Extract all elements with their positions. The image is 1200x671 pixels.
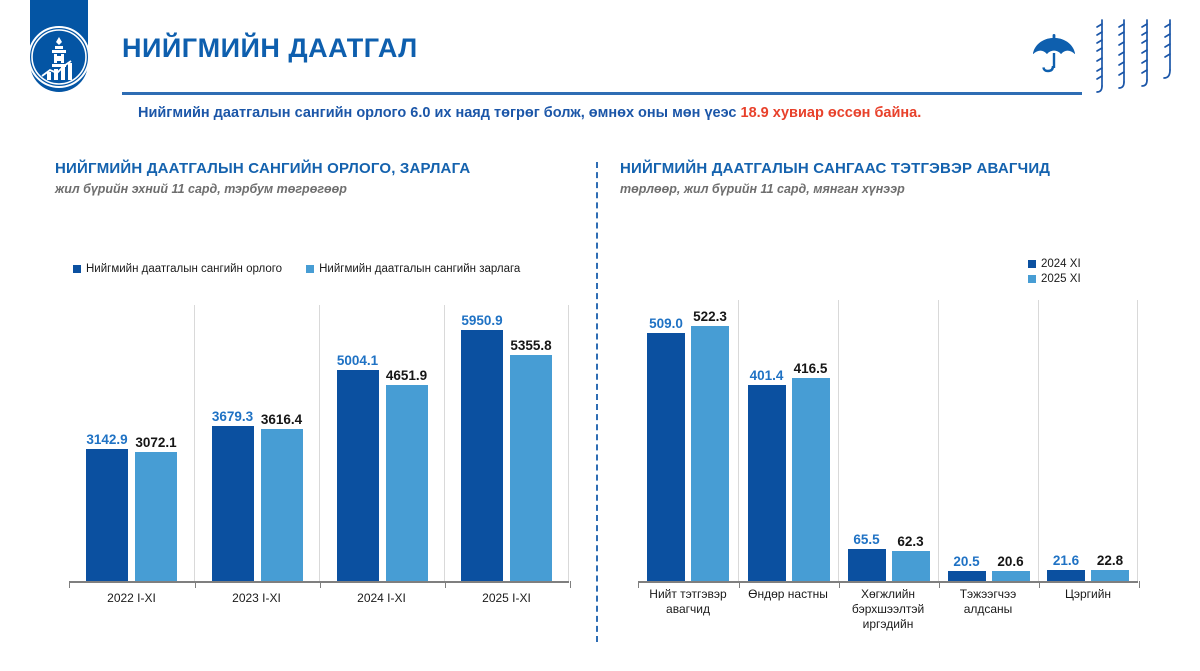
x-axis-label: Хөгжлийн бэрхшээлтэй иргэдийн — [838, 587, 938, 632]
bar-column[interactable]: 5950.9 — [461, 305, 503, 581]
bar[interactable] — [992, 571, 1030, 581]
bar-column[interactable]: 20.5 — [948, 300, 986, 581]
right-chart-title: НИЙГМИЙН ДААТГАЛЫН САНГААС ТЭТГЭВЭР АВАГ… — [620, 160, 1165, 177]
bar-column[interactable]: 401.4 — [748, 300, 786, 581]
legend-swatch-icon — [1028, 275, 1036, 283]
bar[interactable] — [386, 385, 428, 581]
bar-group: 509.0522.3 — [638, 300, 738, 581]
bar-column[interactable]: 21.6 — [1047, 300, 1085, 581]
bar[interactable] — [691, 326, 729, 581]
bar-column[interactable]: 22.8 — [1091, 300, 1129, 581]
bar-value-label: 5950.9 — [461, 313, 502, 328]
legend-swatch-icon — [73, 265, 81, 273]
legend-swatch-icon — [306, 265, 314, 273]
bar[interactable] — [1047, 570, 1085, 581]
bar-value-label: 509.0 — [649, 316, 683, 331]
chart-panel-left: НИЙГМИЙН ДААТГАЛЫН САНГИЙН ОРЛОГО, ЗАРЛА… — [55, 160, 580, 671]
bar-column[interactable]: 20.6 — [992, 300, 1030, 581]
page-title: НИЙГМИЙН ДААТГАЛ — [122, 33, 418, 64]
left-chart-plot-area: 3142.93072.13679.33616.45004.14651.95950… — [69, 305, 569, 583]
bar-value-label: 4651.9 — [386, 368, 427, 383]
right-chart-subtitle: төрлөөр, жил бүрийн 11 сард, мянган хүнэ… — [620, 182, 1165, 196]
bar-column[interactable]: 3142.9 — [86, 305, 128, 581]
right-chart-legend: 2024 XI 2025 XI — [1028, 258, 1081, 285]
bar-value-label: 62.3 — [897, 534, 923, 549]
bar[interactable] — [792, 378, 830, 581]
bar[interactable] — [892, 551, 930, 581]
left-chart-subtitle: жил бүрийн эхний 11 сард, тэрбум төгрөгө… — [55, 182, 580, 196]
bar-column[interactable]: 65.5 — [848, 300, 886, 581]
bar[interactable] — [337, 370, 379, 581]
bar-column[interactable]: 522.3 — [691, 300, 729, 581]
left-chart-title: НИЙГМИЙН ДААТГАЛЫН САНГИЙН ОРЛОГО, ЗАРЛА… — [55, 160, 580, 177]
left-chart-legend: Нийгмийн даатгалын сангийн орлого Нийгми… — [73, 263, 520, 275]
bar-column[interactable]: 3072.1 — [135, 305, 177, 581]
bar-group: 5950.95355.8 — [444, 305, 569, 581]
bar-value-label: 3679.3 — [212, 409, 253, 424]
x-axis-label: 2022 I-XI — [69, 591, 194, 606]
x-axis-label: 2023 I-XI — [194, 591, 319, 606]
bar-group: 3142.93072.1 — [69, 305, 194, 581]
legend-label: 2024 XI — [1041, 258, 1081, 270]
bar-column[interactable]: 3679.3 — [212, 305, 254, 581]
bar-column[interactable]: 5004.1 — [337, 305, 379, 581]
bar-column[interactable]: 416.5 — [792, 300, 830, 581]
legend-label: Нийгмийн даатгалын сангийн орлого — [86, 263, 282, 275]
bar-value-label: 401.4 — [750, 368, 784, 383]
bar-value-label: 3072.1 — [135, 435, 176, 450]
bar-group: 401.4416.5 — [738, 300, 838, 581]
bar-value-label: 3616.4 — [261, 412, 302, 427]
bar-value-label: 5004.1 — [337, 353, 378, 368]
bar-value-label: 416.5 — [794, 361, 828, 376]
bar-group: 20.520.6 — [938, 300, 1038, 581]
bar-value-label: 20.6 — [997, 554, 1023, 569]
bar[interactable] — [948, 571, 986, 581]
legend-item-2025[interactable]: 2025 XI — [1028, 273, 1081, 285]
axis-tick — [195, 581, 196, 588]
axis-tick — [445, 581, 446, 588]
bar[interactable] — [848, 549, 886, 581]
bar[interactable] — [1091, 570, 1129, 581]
right-chart-plot-area: 509.0522.3401.4416.565.562.320.520.621.6… — [638, 300, 1138, 583]
bar-group: 5004.14651.9 — [319, 305, 444, 581]
subtitle-highlight: 18.9 хувиар өссөн байна. — [741, 105, 922, 121]
bar-group: 65.562.3 — [838, 300, 938, 581]
subtitle-text: Нийгмийн даатгалын сангийн орлого 6.0 их… — [138, 105, 741, 121]
axis-tick — [320, 581, 321, 588]
bar-column[interactable]: 4651.9 — [386, 305, 428, 581]
x-axis-label: 2024 I-XI — [319, 591, 444, 606]
bar-value-label: 21.6 — [1053, 553, 1079, 568]
bar-group: 3679.33616.4 — [194, 305, 319, 581]
bar-column[interactable]: 3616.4 — [261, 305, 303, 581]
bar-column[interactable]: 509.0 — [647, 300, 685, 581]
bar[interactable] — [261, 429, 303, 581]
soyombo-chart-emblem-icon — [28, 26, 90, 88]
right-chart-x-axis-labels: Нийт тэтгэвэр авагчидӨндөр настныХөгжлий… — [638, 587, 1138, 632]
axis-tick — [570, 581, 571, 588]
x-axis-label: Цэргийн — [1038, 587, 1138, 632]
legend-label: 2025 XI — [1041, 273, 1081, 285]
chart-panel-right: НИЙГМИЙН ДААТГАЛЫН САНГААС ТЭТГЭВЭР АВАГ… — [620, 160, 1165, 671]
traditional-mongolian-script-icon — [1090, 14, 1186, 101]
x-axis-label: Өндөр настны — [738, 587, 838, 632]
bar[interactable] — [86, 449, 128, 581]
umbrella-icon — [1030, 30, 1078, 83]
bar-value-label: 522.3 — [693, 309, 727, 324]
axis-tick — [1139, 581, 1140, 588]
bar-column[interactable]: 62.3 — [892, 300, 930, 581]
bar[interactable] — [647, 333, 685, 581]
legend-item-expense[interactable]: Нийгмийн даатгалын сангийн зарлага — [306, 263, 520, 275]
bar-group: 21.622.8 — [1038, 300, 1138, 581]
panel-divider — [596, 162, 598, 642]
bar-value-label: 3142.9 — [86, 432, 127, 447]
bar[interactable] — [135, 452, 177, 581]
x-axis-label: Тэжээгчээ алдсаны — [938, 587, 1038, 632]
bar[interactable] — [748, 385, 786, 581]
legend-item-2024[interactable]: 2024 XI — [1028, 258, 1081, 270]
page-header: НИЙГМИЙН ДААТГАЛ — [0, 0, 1200, 150]
legend-swatch-icon — [1028, 260, 1036, 268]
left-chart-x-axis-labels: 2022 I-XI2023 I-XI2024 I-XI2025 I-XI — [69, 591, 569, 606]
legend-label: Нийгмийн даатгалын сангийн зарлага — [319, 263, 520, 275]
bar-value-label: 20.5 — [953, 554, 979, 569]
bar-column[interactable]: 5355.8 — [510, 305, 552, 581]
header-subtitle: Нийгмийн даатгалын сангийн орлого 6.0 их… — [138, 103, 998, 124]
bar[interactable] — [461, 330, 503, 581]
bar-value-label: 22.8 — [1097, 553, 1123, 568]
bar[interactable] — [510, 355, 552, 581]
legend-item-income[interactable]: Нийгмийн даатгалын сангийн орлого — [73, 263, 282, 275]
bar-value-label: 5355.8 — [510, 338, 551, 353]
title-divider-rule — [122, 92, 1082, 95]
bar-value-label: 65.5 — [853, 532, 879, 547]
x-axis-label: Нийт тэтгэвэр авагчид — [638, 587, 738, 632]
axis-tick — [69, 581, 70, 588]
bar[interactable] — [212, 426, 254, 581]
x-axis-label: 2025 I-XI — [444, 591, 569, 606]
